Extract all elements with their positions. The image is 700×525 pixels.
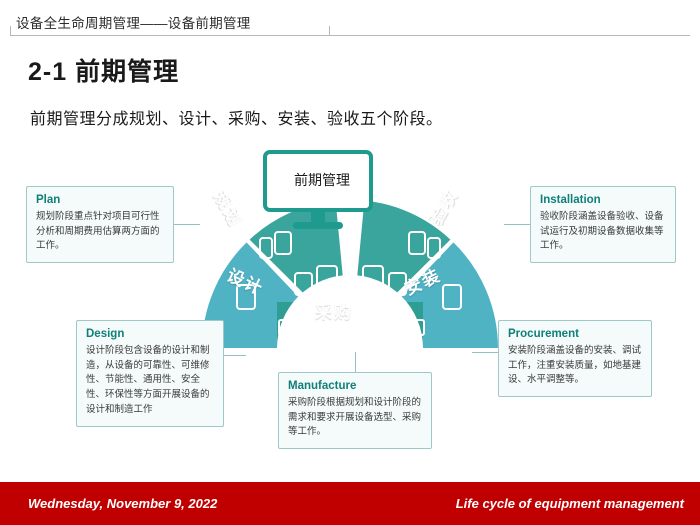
- footer-caption: Life cycle of equipment management: [456, 496, 684, 511]
- page-title: 2-1 前期管理: [28, 52, 179, 88]
- callout-plan-title: Plan: [36, 194, 164, 206]
- callout-installation[interactable]: Installation 验收阶段涵盖设备验收、设备试运行及初期设备数据收集等工…: [530, 186, 676, 263]
- callout-manufacture-body: 采购阶段根据规划和设计阶段的需求和要求开展设备选型、采购等工作。: [288, 396, 422, 440]
- breadcrumb: 设备全生命周期管理——设备前期管理: [16, 12, 251, 32]
- callout-installation-body: 验收阶段涵盖设备验收、设备试运行及初期设备数据收集等工作。: [540, 210, 666, 254]
- connector-procurement: [472, 352, 498, 353]
- monitor-base: [293, 222, 343, 229]
- callout-design-body: 设计阶段包含设备的设计和制造，从设备的可靠性、可维修性、节能性、通用性、安全性、…: [86, 344, 214, 418]
- callout-procurement-body: 安装阶段涵盖设备的安装、调试工作，注重安装质量，如地基建设、水平调整等。: [508, 344, 642, 388]
- callout-plan[interactable]: Plan 规划阶段重点针对项目可行性分析和周期费用估算两方面的工作。: [26, 186, 174, 263]
- connector-installation: [504, 224, 530, 225]
- callout-manufacture-title: Manufacture: [288, 380, 422, 392]
- petal-label-manufacture: 采购: [315, 298, 353, 323]
- monitor-icon: 前期管理: [263, 150, 373, 236]
- callout-procurement-title: Procurement: [508, 328, 642, 340]
- monitor-screen: 前期管理: [263, 150, 373, 212]
- callout-installation-title: Installation: [540, 194, 666, 206]
- diagram-center-label: 前期管理: [267, 170, 377, 190]
- connector-plan: [174, 224, 200, 225]
- lifecycle-diagram: 规划 设计 采购 安装 验收 前期管理: [175, 150, 525, 350]
- header-rule: 设备全生命周期管理——设备前期管理: [10, 10, 690, 36]
- footer-bar: Wednesday, November 9, 2022 Life cycle o…: [0, 485, 700, 525]
- callout-design-title: Design: [86, 328, 214, 340]
- callout-design[interactable]: Design 设计阶段包含设备的设计和制造，从设备的可靠性、可维修性、节能性、通…: [76, 320, 224, 427]
- connector-manufacture: [355, 352, 356, 372]
- callout-procurement[interactable]: Procurement 安装阶段涵盖设备的安装、调试工作，注重安装质量，如地基建…: [498, 320, 652, 397]
- callout-plan-body: 规划阶段重点针对项目可行性分析和周期费用估算两方面的工作。: [36, 210, 164, 254]
- footer-date: Wednesday, November 9, 2022: [28, 496, 217, 511]
- page-subtitle: 前期管理分成规划、设计、采购、安装、验收五个阶段。: [30, 105, 443, 129]
- callout-manufacture[interactable]: Manufacture 采购阶段根据规划和设计阶段的需求和要求开展设备选型、采购…: [278, 372, 432, 449]
- connector-design: [224, 355, 246, 356]
